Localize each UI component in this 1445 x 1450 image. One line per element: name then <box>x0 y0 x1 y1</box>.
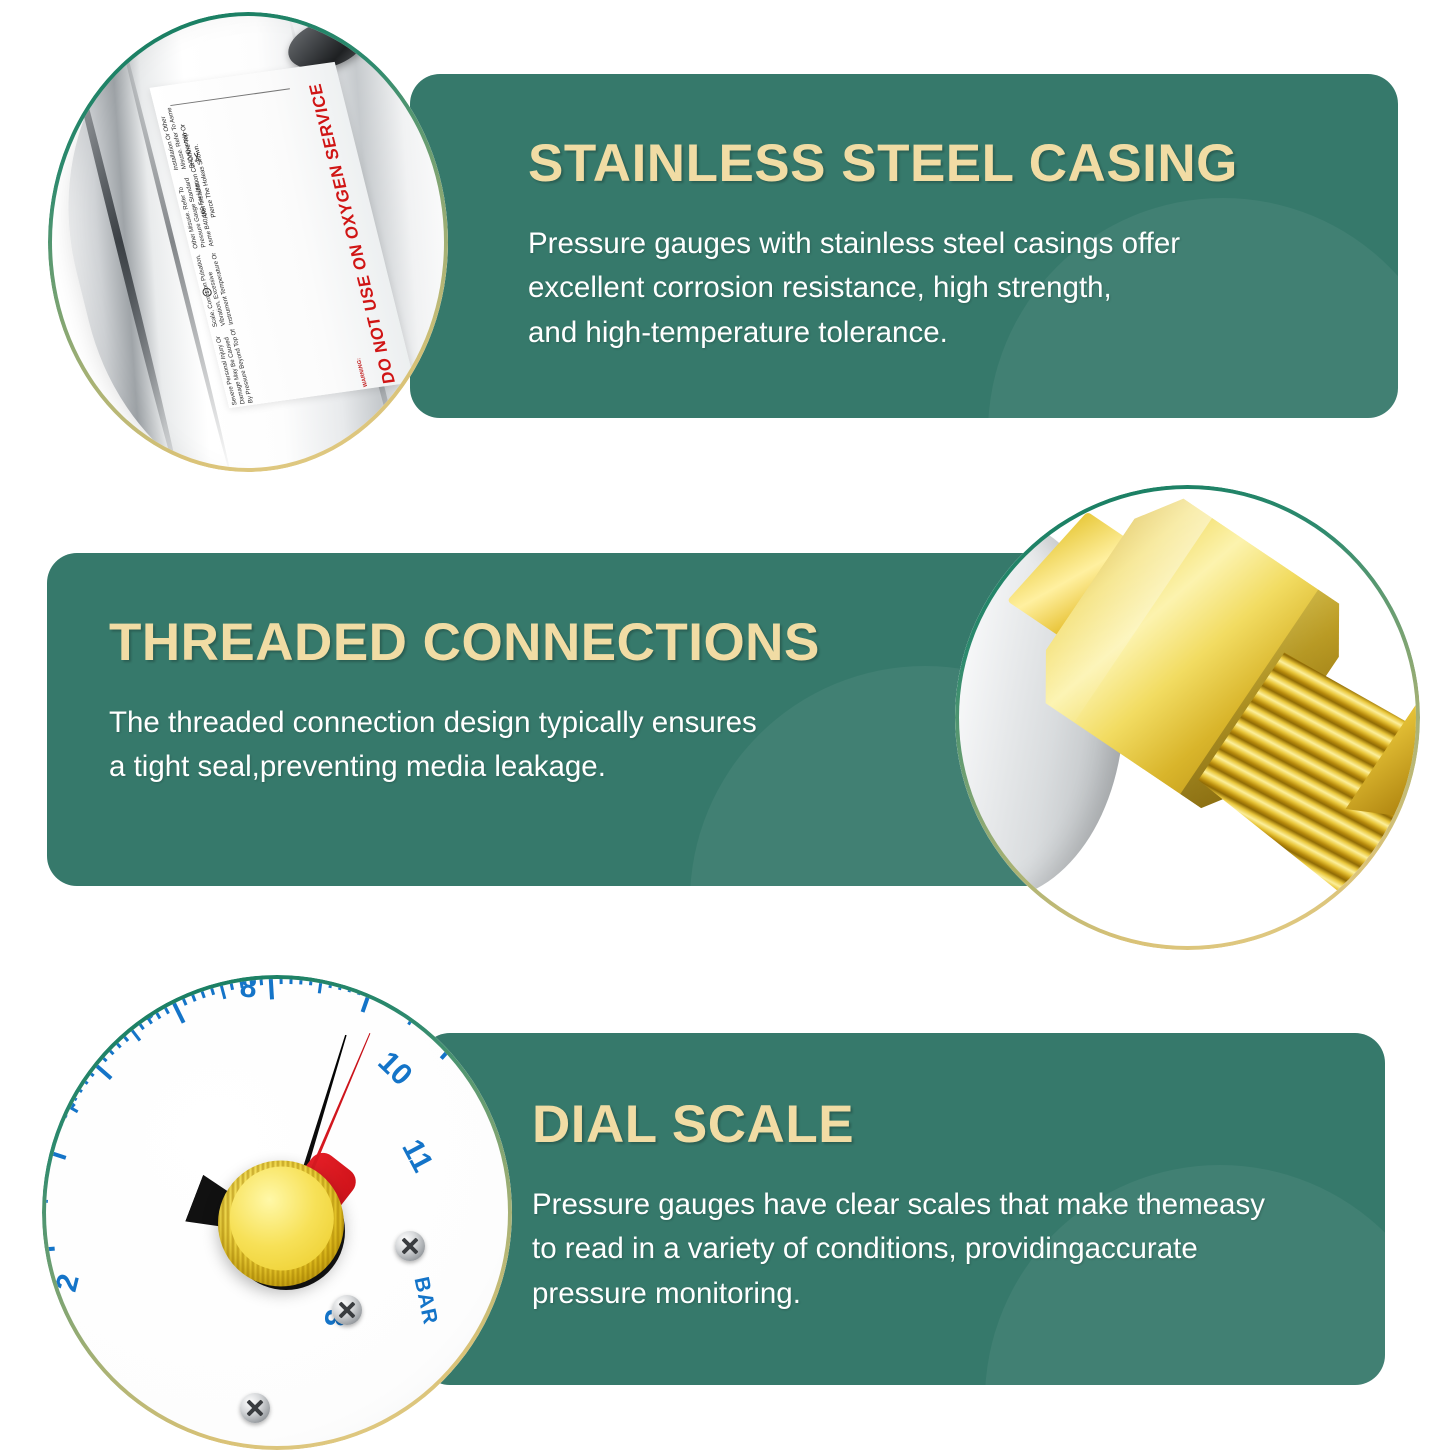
panel-title-threaded-connections: THREADED CONNECTIONS <box>109 615 820 671</box>
feature-panel-stainless-steel-casing: STAINLESS STEEL CASING Pressure gauges w… <box>410 74 1398 418</box>
photo-clip <box>959 489 1416 946</box>
brass-fitting-photo <box>959 489 1416 946</box>
dial-number-1: 1 <box>46 1354 58 1368</box>
dial-tick-bar <box>280 979 283 984</box>
adjuster-knob-top <box>230 1167 334 1271</box>
panel-body-dial-scale: Pressure gauges have clear scales that m… <box>532 1183 1265 1317</box>
panel-body-line: excellent corrosion resistance, high str… <box>528 266 1238 311</box>
panel-body-line: Pressure gauges with stainless steel cas… <box>528 222 1238 267</box>
panel-body-stainless-steel-casing: Pressure gauges with stainless steel cas… <box>528 222 1238 356</box>
photo-clip: Severe Personal Injury Or Damage May Be … <box>52 16 444 468</box>
infographic-canvas: STAINLESS STEEL CASING Pressure gauges w… <box>0 0 1445 1445</box>
panel-title-dial-scale: DIAL SCALE <box>532 1097 1265 1153</box>
panel-title-stainless-steel-casing: STAINLESS STEEL CASING <box>528 136 1238 192</box>
warning-word: WARNING: <box>356 358 369 388</box>
photo-clip: 8 6 4 2 1 3 10 11 20 BAR <box>46 979 508 1446</box>
panel-body-line: and high-temperature tolerance. <box>528 311 1238 356</box>
gauge-dial-photo: 8 6 4 2 1 3 10 11 20 BAR <box>46 979 508 1446</box>
panel-body-line: The threaded connection design typically… <box>109 701 820 746</box>
panel-body-line: pressure monitoring. <box>532 1272 1265 1317</box>
dial-screw <box>332 1295 362 1325</box>
panel-body-line: to read in a variety of conditions, prov… <box>532 1227 1265 1272</box>
warning-divider <box>170 89 290 107</box>
photo-bubble-threaded-connection <box>955 485 1420 950</box>
panel-body-line: a tight seal,preventing media leakage. <box>109 745 820 790</box>
panel-body-threaded-connections: The threaded connection design typically… <box>109 701 820 791</box>
stainless-casing-photo: Severe Personal Injury Or Damage May Be … <box>52 16 444 468</box>
panel-body-line: Pressure gauges have clear scales that m… <box>532 1183 1265 1228</box>
photo-bubble-stainless-steel-casing: Severe Personal Injury Or Damage May Be … <box>48 12 448 472</box>
feature-panel-dial-scale: DIAL SCALE Pressure gauges have clear sc… <box>420 1033 1385 1385</box>
dial-face: 8 6 4 2 1 3 10 11 20 BAR <box>46 979 508 1446</box>
photo-bubble-dial-scale: 8 6 4 2 1 3 10 11 20 BAR <box>42 975 512 1450</box>
